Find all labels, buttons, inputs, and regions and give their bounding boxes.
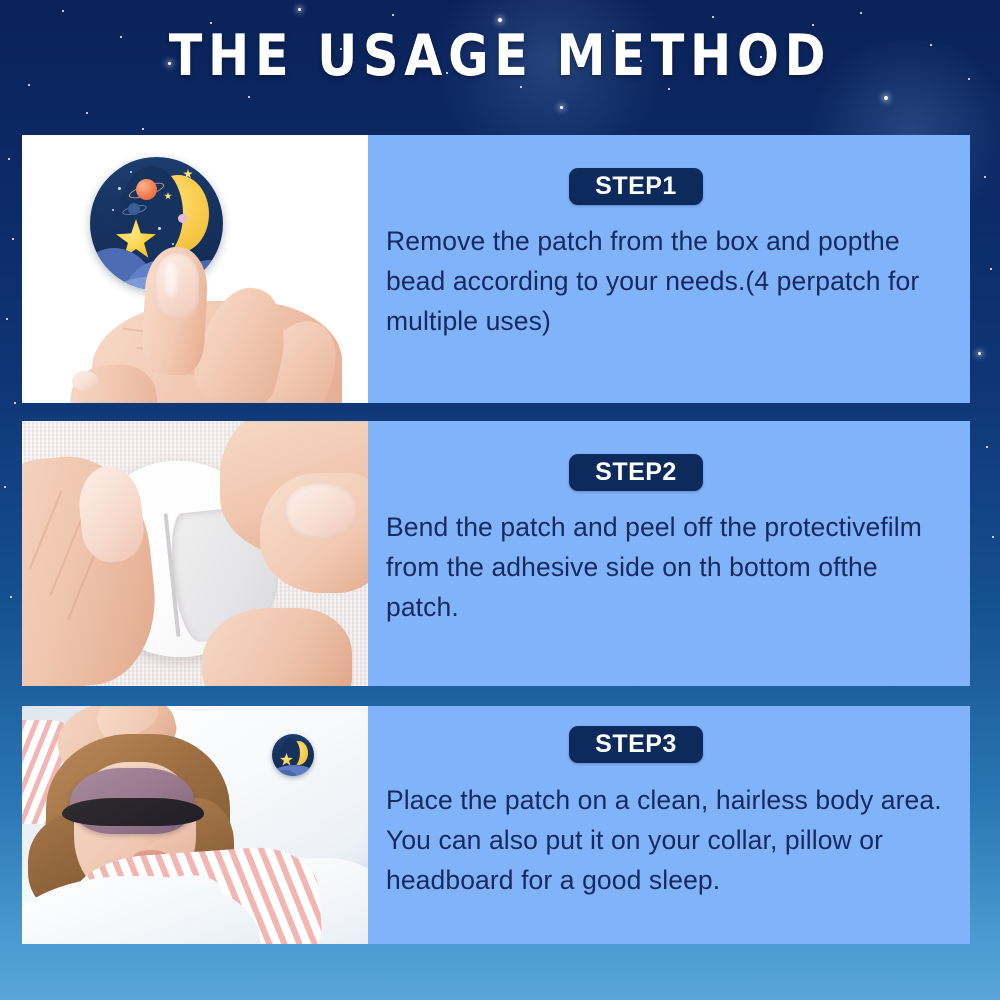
step2-instructions: Bend the patch and peel off the protecti…: [386, 507, 952, 627]
step2-badge: STEP2: [569, 454, 703, 491]
fingernail: [72, 371, 98, 391]
moon-patch-on-pillow: [272, 734, 314, 776]
pink-planet-icon: [178, 214, 187, 223]
planet-icon: [136, 179, 157, 200]
step-row-2: STEP2 Bend the patch and peel off the pr…: [22, 421, 970, 686]
star-dot: [158, 227, 161, 230]
star-dot: [172, 243, 174, 245]
thumbnail: [155, 253, 199, 319]
step-row-1: STEP1 Remove the patch from the box and …: [22, 135, 970, 403]
step3-badge: STEP3: [569, 726, 703, 763]
step1-text-panel: STEP1 Remove the patch from the box and …: [368, 135, 970, 403]
small-planet-icon: [128, 203, 140, 215]
crescent-moon-icon: [289, 741, 308, 765]
step2-text-panel: STEP2 Bend the patch and peel off the pr…: [368, 421, 970, 686]
step3-instructions: Place the patch on a clean, hairless bod…: [386, 780, 952, 900]
step-row-3: STEP3 Place the patch on a clean, hairle…: [22, 706, 970, 944]
fingernail: [286, 483, 358, 539]
step1-badge: STEP1: [569, 168, 703, 205]
step3-image-woman-sleeping: [22, 706, 368, 944]
step2-image-peeling-protective-film: [22, 421, 368, 686]
star-dot: [112, 209, 114, 211]
hand-holding-patch: [52, 247, 342, 403]
eye-mask-band: [62, 798, 204, 826]
star-dot: [130, 171, 132, 173]
star-dot: [118, 187, 121, 190]
page-title: THE USAGE METHOD: [20, 26, 980, 88]
step1-instructions: Remove the patch from the box and popthe…: [386, 221, 952, 341]
step1-image-fingers-holding-moon-patch: [22, 135, 368, 403]
step3-text-panel: STEP3 Place the patch on a clean, hairle…: [368, 706, 970, 944]
usage-method-poster: THE USAGE METHOD: [0, 0, 1000, 1000]
